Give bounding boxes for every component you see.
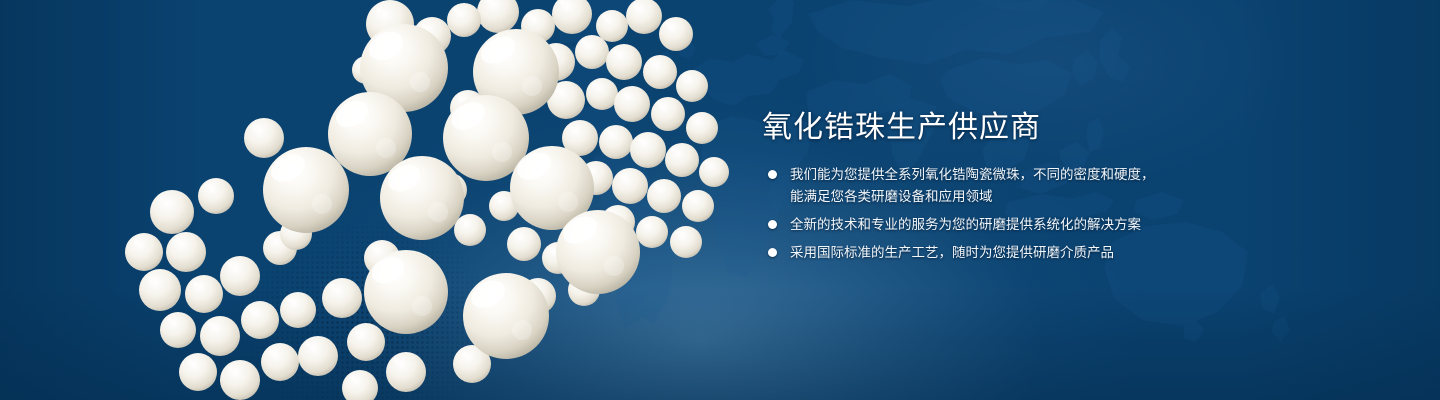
page-title: 氧化锆珠生产供应商 bbox=[762, 108, 1232, 148]
bullet-dot-icon bbox=[768, 248, 777, 257]
feature-list: 我们能为您提供全系列氧化锆陶瓷微珠，不同的密度和硬度， 能满足您各类研磨设备和应… bbox=[762, 164, 1232, 263]
list-item: 全新的技术和专业的服务为您的研磨提供系统化的解决方案 bbox=[762, 214, 1232, 235]
bullet-dot-icon bbox=[768, 170, 777, 179]
zirconia-beads-photo bbox=[120, 0, 740, 400]
hero-banner: 氧化锆珠生产供应商 我们能为您提供全系列氧化锆陶瓷微珠，不同的密度和硬度， 能满… bbox=[0, 0, 1440, 400]
list-item-line: 我们能为您提供全系列氧化锆陶瓷微珠，不同的密度和硬度， bbox=[790, 164, 1232, 185]
list-item: 我们能为您提供全系列氧化锆陶瓷微珠，不同的密度和硬度， 能满足您各类研磨设备和应… bbox=[762, 164, 1232, 207]
list-item-line: 全新的技术和专业的服务为您的研磨提供系统化的解决方案 bbox=[790, 214, 1232, 235]
bullet-dot-icon bbox=[768, 220, 777, 229]
list-item: 采用国际标准的生产工艺，随时为您提供研磨介质产品 bbox=[762, 242, 1232, 263]
hero-copy: 氧化锆珠生产供应商 我们能为您提供全系列氧化锆陶瓷微珠，不同的密度和硬度， 能满… bbox=[762, 108, 1232, 263]
list-item-line: 能满足您各类研磨设备和应用领域 bbox=[790, 186, 1232, 207]
list-item-line: 采用国际标准的生产工艺，随时为您提供研磨介质产品 bbox=[790, 242, 1232, 263]
